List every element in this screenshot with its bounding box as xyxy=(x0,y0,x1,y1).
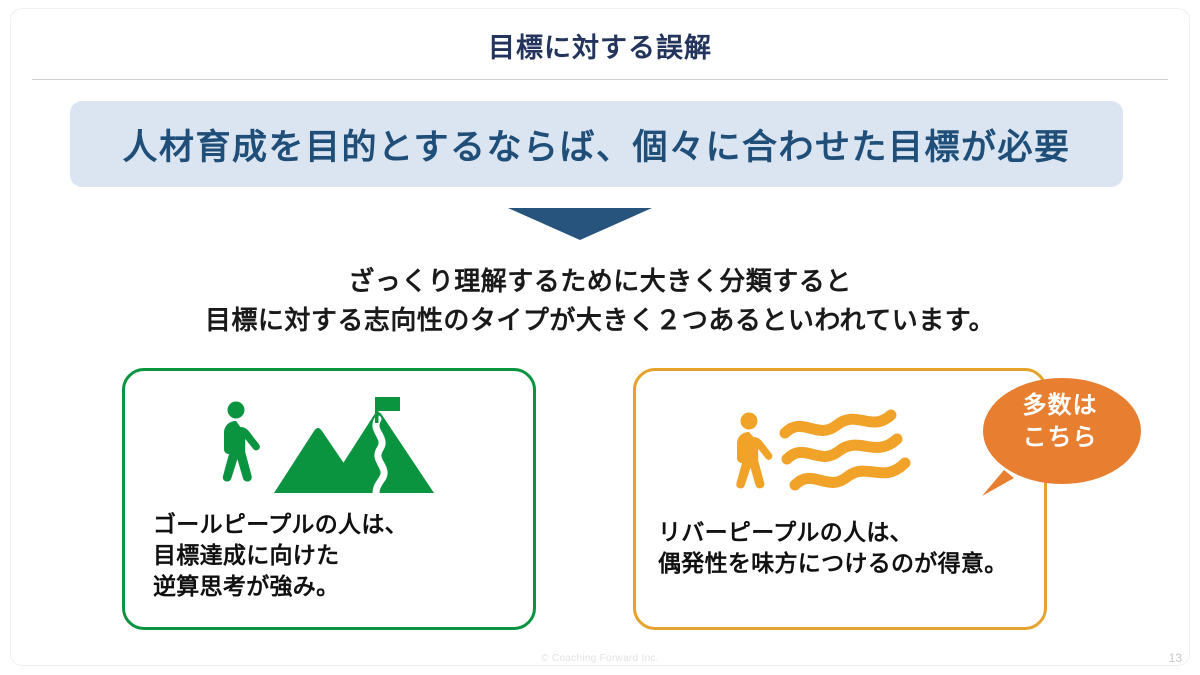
lead-line-1: ざっくり理解するために大きく分類すると xyxy=(0,262,1200,301)
page-number: 13 xyxy=(1169,651,1182,665)
slide-canvas: 目標に対する誤解 人材育成を目的とするならば、個々に合わせた目標が必要 ざっくり… xyxy=(0,0,1200,675)
key-message-banner: 人材育成を目的とするならば、個々に合わせた目標が必要 xyxy=(70,101,1123,187)
bubble-line-2: こちら xyxy=(980,422,1140,454)
card-goal-line-3: 逆算思考が強み。 xyxy=(153,571,408,602)
card-river-line-2: 偶発性を味方につけるのが得意。 xyxy=(658,548,1008,579)
card-goal-line-1: ゴールピープルの人は、 xyxy=(153,509,408,540)
bubble-line-1: 多数は xyxy=(980,390,1140,422)
mountain-flag-icon xyxy=(125,393,533,498)
page-title: 目標に対する誤解 xyxy=(0,26,1200,65)
callout-bubble: 多数は こちら xyxy=(980,374,1156,504)
title-divider xyxy=(32,79,1168,80)
down-arrow-icon xyxy=(508,208,652,240)
footer-copyright: © Coaching Forward Inc. xyxy=(0,653,1200,664)
card-goal-people[interactable]: ゴールピープルの人は、 目標達成に向けた 逆算思考が強み。 xyxy=(122,368,536,630)
callout-bubble-text: 多数は こちら xyxy=(980,390,1140,454)
banner-text: 人材育成を目的とするならば、個々に合わせた目標が必要 xyxy=(123,119,1071,170)
card-river-people-text: リバーピープルの人は、 偶発性を味方につけるのが得意。 xyxy=(658,517,1008,579)
card-river-line-1: リバーピープルの人は、 xyxy=(658,517,1008,548)
card-goal-line-2: 目標達成に向けた xyxy=(153,540,408,571)
card-goal-people-text: ゴールピープルの人は、 目標達成に向けた 逆算思考が強み。 xyxy=(153,509,408,602)
lead-paragraph: ざっくり理解するために大きく分類すると 目標に対する志向性のタイプが大きく２つあ… xyxy=(0,262,1200,340)
lead-line-2: 目標に対する志向性のタイプが大きく２つあるといわれています。 xyxy=(0,301,1200,340)
